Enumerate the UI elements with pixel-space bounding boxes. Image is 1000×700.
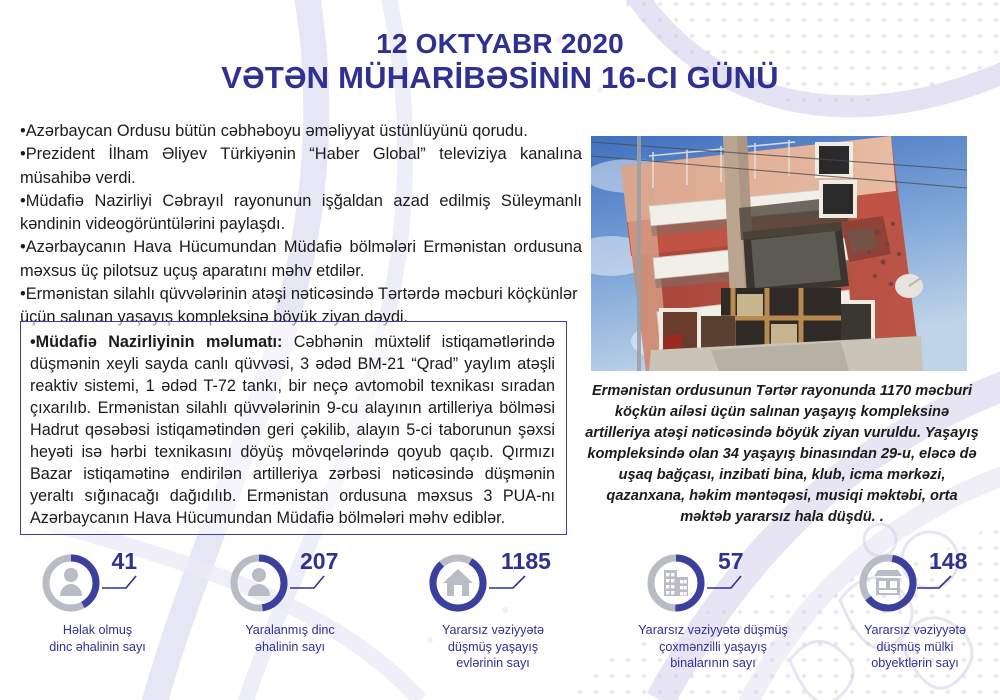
- statistics-row: 41 Həlak olmuş dinc əhalinin sayı 207: [0, 552, 1000, 700]
- house-icon: [443, 569, 473, 596]
- donut-ring: [40, 552, 102, 614]
- statement-body-text: Cəbhənin müxtəlif istiqamətlərində düşmə…: [30, 333, 555, 527]
- stat-value: 148: [929, 548, 967, 575]
- leader-line: [290, 574, 330, 592]
- photo-caption: Ermənistan ordusunun Tərtər rayonunda 11…: [582, 381, 982, 528]
- bullet-item: •Prezident İlham Əliyev Türkiyənin “Habe…: [20, 143, 582, 190]
- damaged-building-photo: [591, 136, 967, 371]
- infographic-page: 12 OKTYABR 2020 VƏTƏN MÜHARİBƏSİNİN 16-C…: [0, 0, 1000, 700]
- title-date: 12 OKTYABR 2020: [0, 28, 1000, 60]
- leader-line: [489, 574, 531, 592]
- stat-card-damaged-houses: 1185 Yararsız vəziyyətə düşmüş yaşayış e…: [398, 552, 588, 672]
- stat-label: Yararsız vəziyyətə düşmüş çoxmənzilli ya…: [608, 622, 818, 672]
- stat-label: Həlak olmuş dinc əhalinin sayı: [10, 622, 185, 655]
- stat-card-civilian-deaths: 41 Həlak olmuş dinc əhalinin sayı: [10, 552, 185, 655]
- leader-line: [102, 574, 142, 592]
- donut-ring: [645, 552, 707, 614]
- stat-value: 207: [300, 548, 338, 575]
- stat-card-civilian-injured: 207 Yaralanmış dinc əhalinin sayı: [200, 552, 380, 655]
- ministry-statement-box: •Müdafiə Nazirliyinin məlumatı: Cəbhənin…: [20, 321, 567, 535]
- bullet-item: •Müdafiə Nazirliyi Cəbrayıl rayonunun iş…: [20, 190, 582, 237]
- bullet-item: •Azərbaycan Ordusu bütün cəbhəboyu əməli…: [20, 120, 582, 143]
- person-icon: [60, 568, 82, 596]
- stat-label: Yaralanmış dinc əhalinin sayı: [200, 622, 380, 655]
- shop-icon: [874, 570, 902, 595]
- stat-label: Yararsız vəziyyətə düşmüş yaşayış evləri…: [398, 622, 588, 672]
- donut-ring: [228, 552, 290, 614]
- stat-label: Yararsız vəziyyətə düşmüş mülki obyektlə…: [830, 622, 1000, 672]
- leader-line: [707, 574, 747, 592]
- stat-value: 57: [718, 548, 744, 575]
- statement-lead-label: •Müdafiə Nazirliyinin məlumatı:: [30, 333, 282, 351]
- stat-card-damaged-civil-objects: 148 Yararsız vəziyyətə düşmüş mülki obye…: [830, 552, 1000, 672]
- news-bullet-list: •Azərbaycan Ordusu bütün cəbhəboyu əməli…: [20, 120, 582, 330]
- title-main: VƏTƏN MÜHARİBƏSİNİN 16-CI GÜNÜ: [0, 60, 1000, 96]
- leader-line: [917, 574, 957, 592]
- stat-value: 41: [112, 548, 138, 575]
- donut-ring: [857, 552, 919, 614]
- person-icon: [248, 568, 270, 596]
- page-title: 12 OKTYABR 2020 VƏTƏN MÜHARİBƏSİNİN 16-C…: [0, 28, 1000, 96]
- stat-card-damaged-apartment-buildings: 57 Yararsız vəziyyətə düşmüş çoxmənzilli…: [608, 552, 818, 672]
- bullet-item: •Azərbaycanın Hava Hücumundan Müdafiə bö…: [20, 236, 582, 283]
- apartment-building-icon: [664, 570, 688, 596]
- donut-ring: [427, 552, 489, 614]
- stat-value: 1185: [501, 548, 551, 575]
